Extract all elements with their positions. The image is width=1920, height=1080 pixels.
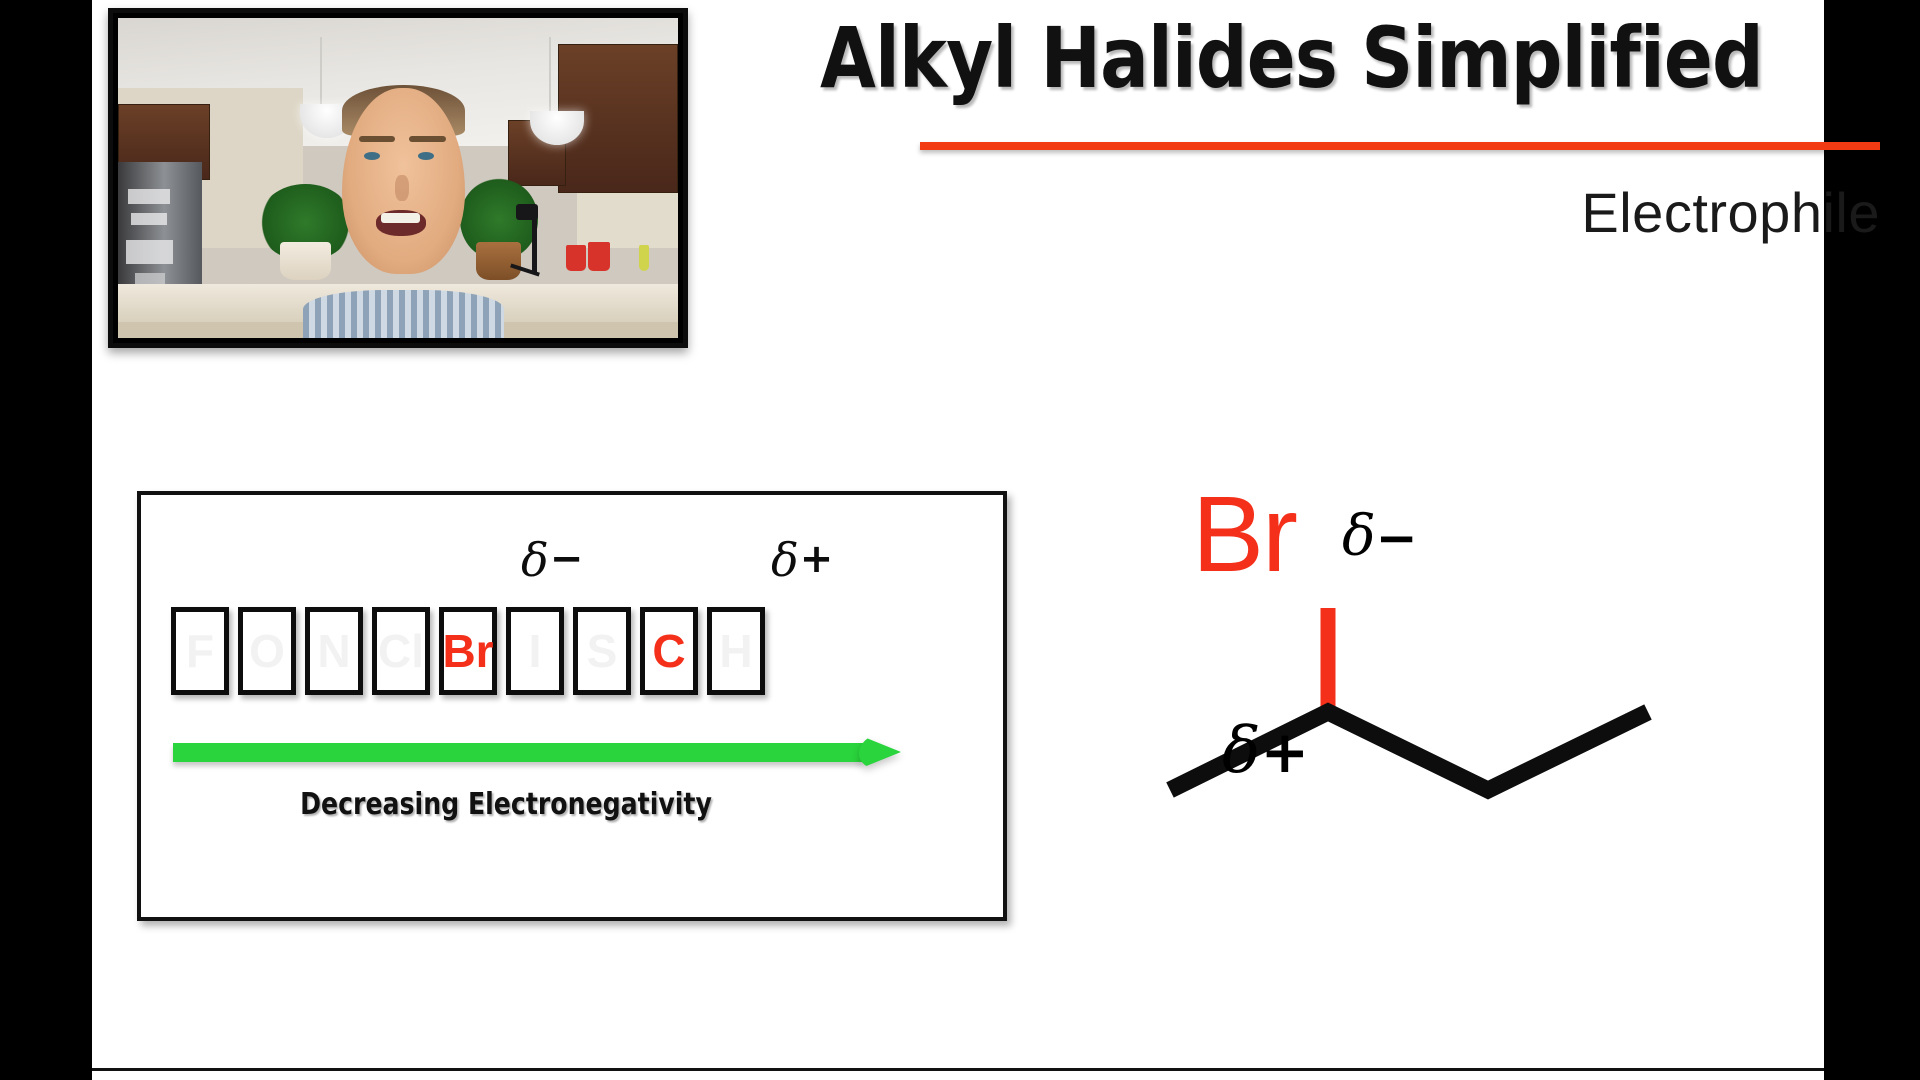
pendant-cord-left bbox=[320, 37, 322, 107]
tripod-column bbox=[532, 210, 537, 274]
pendant-cord-right bbox=[549, 37, 551, 114]
element-tile-label: H bbox=[719, 628, 752, 674]
molecule-diagram: Br δ− δ+ bbox=[1152, 490, 1792, 910]
tripod-head bbox=[516, 204, 538, 220]
presenter-webcam[interactable] bbox=[108, 8, 688, 348]
element-tile-n[interactable]: N bbox=[305, 607, 363, 695]
red-cup-a bbox=[566, 245, 586, 271]
arrow-head-icon bbox=[859, 735, 901, 769]
title-underline-rule bbox=[920, 142, 1880, 150]
element-tile-c[interactable]: C bbox=[640, 607, 698, 695]
webcam-video-frame bbox=[118, 18, 678, 338]
element-tile-label: Cl bbox=[378, 628, 424, 674]
arrow-caption: Decreasing Electronegativity bbox=[199, 787, 812, 822]
element-tile-label: I bbox=[529, 628, 542, 674]
delta-symbol: δ bbox=[521, 533, 549, 587]
delta-minus-label: δ− bbox=[521, 537, 582, 583]
slide-stage: Alkyl Halides Simplified Electrophile δ−… bbox=[0, 0, 1920, 1080]
electronegativity-arrow bbox=[173, 735, 901, 769]
plus-sign: + bbox=[800, 536, 834, 582]
slide-canvas: Alkyl Halides Simplified Electrophile δ−… bbox=[92, 0, 1824, 1080]
element-tile-br[interactable]: Br bbox=[439, 607, 497, 695]
red-cup-b bbox=[588, 242, 610, 271]
plant-pot-right bbox=[476, 242, 521, 280]
fridge-note bbox=[131, 213, 166, 225]
presenter-brow-right bbox=[409, 136, 445, 142]
element-tile-s[interactable]: S bbox=[573, 607, 631, 695]
partial-charge-labels: δ− δ+ bbox=[141, 537, 1003, 597]
element-tile-cl[interactable]: Cl bbox=[372, 607, 430, 695]
presenter-nose bbox=[395, 175, 409, 201]
page-title: Alkyl Halides Simplified bbox=[820, 16, 1663, 100]
element-tile-label: F bbox=[186, 628, 214, 674]
molecule-skeleton bbox=[1152, 490, 1792, 910]
element-tile-label: Br bbox=[442, 628, 493, 674]
plant-pot-left bbox=[280, 242, 330, 280]
element-tile-label: S bbox=[587, 628, 618, 674]
element-tile-label: N bbox=[317, 628, 350, 674]
fridge-note bbox=[128, 189, 170, 204]
arrow-shaft bbox=[173, 743, 863, 762]
element-tile-i[interactable]: I bbox=[506, 607, 564, 695]
minus-sign: − bbox=[550, 536, 584, 582]
presenter-brow-left bbox=[359, 136, 395, 142]
delta-symbol: δ bbox=[1222, 714, 1261, 788]
element-tile-label: C bbox=[652, 628, 685, 674]
molecule-delta-plus-label: δ+ bbox=[1222, 718, 1309, 783]
bottle bbox=[639, 245, 649, 271]
slide-bottom-rule bbox=[92, 1068, 1824, 1071]
element-tile-row: FONClBrISCH bbox=[171, 607, 765, 695]
presenter-shirt bbox=[303, 290, 505, 338]
element-tile-h[interactable]: H bbox=[707, 607, 765, 695]
delta-symbol: δ bbox=[771, 533, 799, 587]
plus-sign: + bbox=[1261, 718, 1310, 786]
element-tile-o[interactable]: O bbox=[238, 607, 296, 695]
fridge-note bbox=[126, 240, 172, 264]
element-tile-label: O bbox=[249, 628, 285, 674]
page-subtitle: Electrophile bbox=[920, 180, 1880, 245]
presenter-teeth bbox=[381, 213, 420, 223]
electronegativity-panel: δ− δ+ FONClBrISCH Decreasing Electronega… bbox=[137, 491, 1007, 921]
delta-plus-label: δ+ bbox=[771, 537, 832, 583]
element-tile-f[interactable]: F bbox=[171, 607, 229, 695]
